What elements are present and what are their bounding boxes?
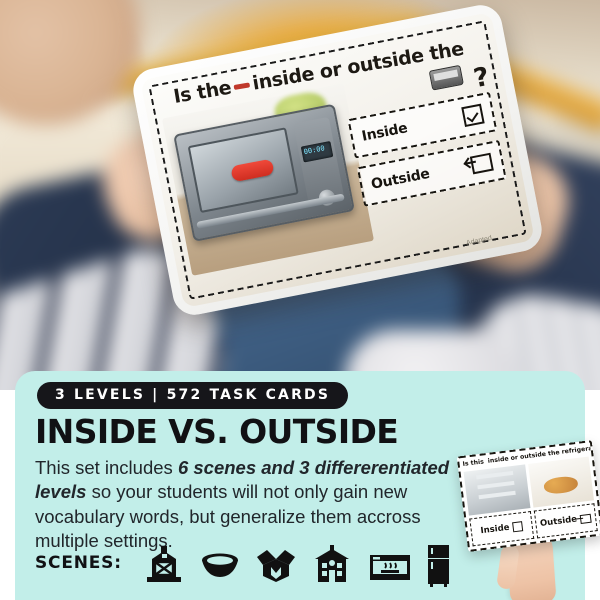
- mini-answer-outside[interactable]: Outside: [533, 503, 597, 538]
- description-lead: This set includes: [35, 457, 178, 478]
- description-text: This set includes 6 scenes and 3 differe…: [35, 456, 480, 554]
- promo-graphic: Is theinside or outside the: [0, 0, 600, 600]
- mini-answer-label: Outside: [540, 514, 578, 528]
- arrow-out-icon[interactable]: [579, 513, 591, 523]
- scenes-icon-row: [143, 543, 465, 585]
- open-box-icon: [255, 543, 297, 585]
- checkbox-icon[interactable]: [512, 521, 523, 532]
- scenes-label: SCENES:: [35, 553, 122, 573]
- arrow-out-icon[interactable]: [470, 153, 494, 175]
- bowl-icon: [199, 543, 241, 585]
- checkbox-icon[interactable]: [461, 104, 484, 127]
- mini-task-card: Is this inside or outside the refrigerat…: [457, 440, 600, 552]
- description-tail: so your students will not only gain new …: [35, 481, 421, 551]
- hero-photo: Is theinside or outside the: [0, 0, 600, 390]
- toaster-oven: [173, 104, 355, 242]
- barn-icon: [143, 543, 185, 585]
- mini-answer-label: Inside: [480, 523, 510, 536]
- egg-icon: [485, 458, 486, 465]
- refrigerator-photo: [464, 464, 530, 515]
- oven-glass-door: [188, 127, 299, 213]
- school-building-icon: [311, 543, 353, 585]
- oven-control-panel: [293, 117, 344, 204]
- answer-label: Inside: [361, 120, 409, 144]
- refrigerator-icon: [423, 543, 465, 585]
- mini-answer-inside[interactable]: Inside: [469, 511, 533, 546]
- child-head: [0, 0, 140, 125]
- red-blank-icon: [234, 82, 251, 90]
- levels-badge: 3 LEVELS | 572 TASK CARDS: [37, 382, 348, 409]
- answer-label: Outside: [370, 166, 431, 193]
- mini-question-prefix: Is this: [462, 458, 484, 468]
- eggs-photo: [528, 457, 594, 508]
- oven-food-item: [230, 159, 274, 183]
- page-title: INSIDE VS. OUTSIDE: [35, 415, 398, 448]
- toaster-oven-icon: [367, 543, 409, 585]
